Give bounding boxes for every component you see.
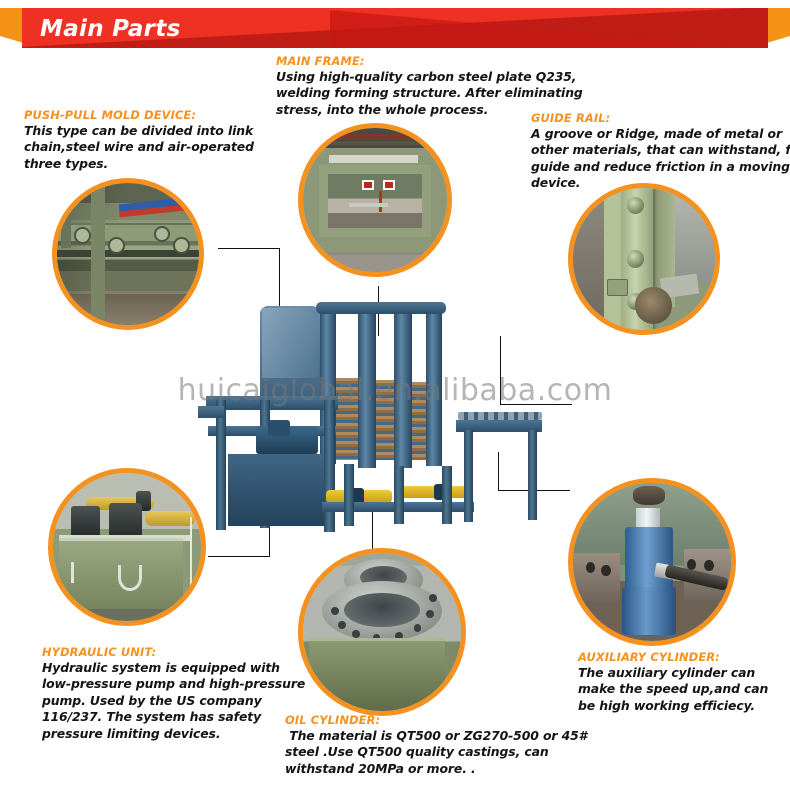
callout-title: HYDRAULIC UNIT: bbox=[42, 645, 292, 659]
rail-roller-wheel bbox=[635, 287, 672, 324]
frame-roof-beam bbox=[303, 134, 447, 140]
auxiliary-cylinder-photo bbox=[568, 478, 736, 646]
poster-stage: Main Parts bbox=[0, 0, 790, 790]
machine-pump-motor bbox=[268, 420, 290, 436]
machine-platen-stack-2 bbox=[376, 380, 394, 460]
hydraulic-cable bbox=[190, 517, 192, 615]
frame-ground bbox=[303, 255, 447, 272]
callout-oil-cylinder: OIL CYLINDER: The material is QT500 or Z… bbox=[285, 713, 570, 777]
machine-shield-face bbox=[262, 308, 318, 378]
callout-auxiliary-cylinder: AUXILIARY CYLINDER: The auxiliary cylind… bbox=[578, 650, 790, 714]
machine-gantry-leg-1 bbox=[216, 400, 226, 530]
hydraulic-unit-photo bbox=[48, 468, 206, 626]
mold-roller-2 bbox=[108, 237, 125, 254]
machine-yellow-cylinder-2 bbox=[396, 486, 468, 498]
mold-floor bbox=[57, 294, 199, 325]
machine-column-4 bbox=[426, 308, 442, 466]
mold-post-1 bbox=[91, 183, 105, 325]
callout-line: stress, into the whole process. bbox=[276, 102, 566, 118]
page-title: Main Parts bbox=[40, 16, 181, 42]
frame-window bbox=[328, 174, 422, 228]
callout-hydraulic-unit: HYDRAULIC UNIT: Hydraulic system is equi… bbox=[42, 645, 292, 742]
oil-cylinder-bore-front bbox=[344, 593, 420, 628]
callout-guide-rail: GUIDE RAIL: A groove or Ridge, made of m… bbox=[531, 111, 790, 192]
mold-post-2 bbox=[61, 183, 71, 248]
oil-flange-bolt-hole-2 bbox=[338, 621, 346, 629]
callout-line: steel .Use QT500 quality castings, can bbox=[285, 744, 570, 760]
main-machine-photo bbox=[198, 300, 550, 535]
connector-line-mold-h bbox=[218, 248, 280, 249]
callout-body: This type can be divided into link chain… bbox=[24, 123, 264, 172]
mold-roller-1 bbox=[74, 227, 91, 244]
connector-line-hyd-h bbox=[208, 556, 270, 557]
callout-line: three types. bbox=[24, 156, 264, 172]
callout-main-frame: MAIN FRAME: Using high-quality carbon st… bbox=[276, 54, 566, 118]
machine-conveyor-leg-2 bbox=[528, 430, 537, 520]
oil-flange-bolt-hole-1 bbox=[331, 607, 339, 615]
callout-line: The material is QT500 or ZG270-500 or 45… bbox=[285, 728, 570, 744]
oil-cylinder-photo bbox=[298, 548, 466, 716]
callout-line: low-pressure pump and high-pressure bbox=[42, 676, 292, 692]
aux-block-hole-1 bbox=[586, 562, 595, 573]
machine-platen-stack-1 bbox=[336, 378, 358, 460]
machine-top-beam bbox=[316, 302, 446, 314]
hydraulic-pipe-2 bbox=[145, 511, 195, 526]
callout-body: A groove or Ridge, made of metal or othe… bbox=[531, 126, 790, 192]
machine-column-3 bbox=[394, 306, 412, 468]
callout-line: welding forming structure. After elimina… bbox=[276, 85, 566, 101]
machine-press-leg-3 bbox=[442, 466, 452, 524]
callout-title: AUXILIARY CYLINDER: bbox=[578, 650, 790, 664]
machine-press-leg-2 bbox=[394, 466, 404, 524]
callout-line: guide and reduce friction in a moving bbox=[531, 159, 790, 175]
callout-line: A groove or Ridge, made of metal or bbox=[531, 126, 790, 142]
machine-left-arm bbox=[198, 406, 224, 418]
rail-nut bbox=[607, 279, 627, 297]
callout-body: The material is QT500 or ZG270-500 or 45… bbox=[285, 728, 570, 777]
guide-rail-photo bbox=[568, 183, 720, 335]
callout-line: Using high-quality carbon steel plate Q2… bbox=[276, 69, 566, 85]
frame-white-plate bbox=[349, 203, 389, 207]
frame-red-panel-2 bbox=[383, 180, 395, 190]
aux-cylinder-cap bbox=[633, 486, 665, 505]
push-pull-mold-photo bbox=[52, 178, 204, 330]
aux-block-hole-4 bbox=[704, 560, 713, 571]
main-frame-photo bbox=[298, 123, 452, 277]
callout-body: Using high-quality carbon steel plate Q2… bbox=[276, 69, 566, 118]
frame-red-panel-1 bbox=[362, 180, 374, 190]
callout-title: GUIDE RAIL: bbox=[531, 111, 790, 125]
rail-bolt-1 bbox=[627, 197, 644, 214]
callout-line: The auxiliary cylinder can bbox=[578, 665, 790, 681]
callout-push-pull-mold-device: PUSH-PULL MOLD DEVICE: This type can be … bbox=[24, 108, 264, 172]
banner-shade-overlay-2 bbox=[330, 8, 768, 48]
hydraulic-motor-1 bbox=[71, 506, 101, 539]
callout-title: MAIN FRAME: bbox=[276, 54, 566, 68]
callout-line: This type can be divided into link bbox=[24, 123, 264, 139]
callout-title: OIL CYLINDER: bbox=[285, 713, 570, 727]
callout-line: other materials, that can withstand, fix… bbox=[531, 142, 790, 158]
callout-line: pressure limiting devices. bbox=[42, 726, 292, 742]
mold-roller-4 bbox=[173, 237, 190, 254]
callout-title: PUSH-PULL MOLD DEVICE: bbox=[24, 108, 264, 122]
callout-line: 116/237. The system has safety bbox=[42, 709, 292, 725]
callout-line: chain,steel wire and air-operated bbox=[24, 139, 264, 155]
frame-outer-body bbox=[319, 165, 431, 237]
aux-block-hole-2 bbox=[601, 565, 610, 576]
machine-platen-stack-3 bbox=[412, 382, 426, 460]
rail-bolt-2 bbox=[627, 250, 644, 267]
machine-tank-panel bbox=[242, 462, 276, 518]
banner: Main Parts bbox=[0, 8, 790, 48]
frame-top-crossbar bbox=[329, 155, 418, 162]
rail-grey-plate bbox=[672, 183, 720, 282]
callout-line: make the speed up,and can bbox=[578, 681, 790, 697]
hydraulic-side-marking bbox=[71, 562, 81, 583]
callout-body: Hydraulic system is equipped with low-pr… bbox=[42, 660, 292, 742]
oil-cylinder-green-base bbox=[309, 641, 445, 714]
callout-line: be high working efficiecy. bbox=[578, 698, 790, 714]
callout-line: pump. Used by the US company bbox=[42, 693, 292, 709]
machine-column-2 bbox=[358, 304, 376, 468]
frame-roof-beam-2 bbox=[303, 141, 447, 145]
machine-conveyor-rollers bbox=[458, 412, 542, 420]
callout-body: The auxiliary cylinder can make the spee… bbox=[578, 665, 790, 714]
machine-gantry-leg-3 bbox=[324, 400, 335, 532]
callout-line: device. bbox=[531, 175, 790, 191]
oil-flange-bolt-hole-7 bbox=[426, 610, 434, 618]
callout-line: withstand 20MPa or more. . bbox=[285, 761, 570, 777]
machine-press-leg-1 bbox=[344, 464, 354, 526]
callout-line: Hydraulic system is equipped with bbox=[42, 660, 292, 676]
frame-red-rod bbox=[379, 191, 382, 213]
rail-background-wall bbox=[573, 188, 604, 330]
aux-mold-block-left bbox=[568, 553, 620, 607]
aux-cylinder-body-lower bbox=[622, 587, 676, 634]
machine-conveyor-leg-1 bbox=[464, 430, 473, 522]
